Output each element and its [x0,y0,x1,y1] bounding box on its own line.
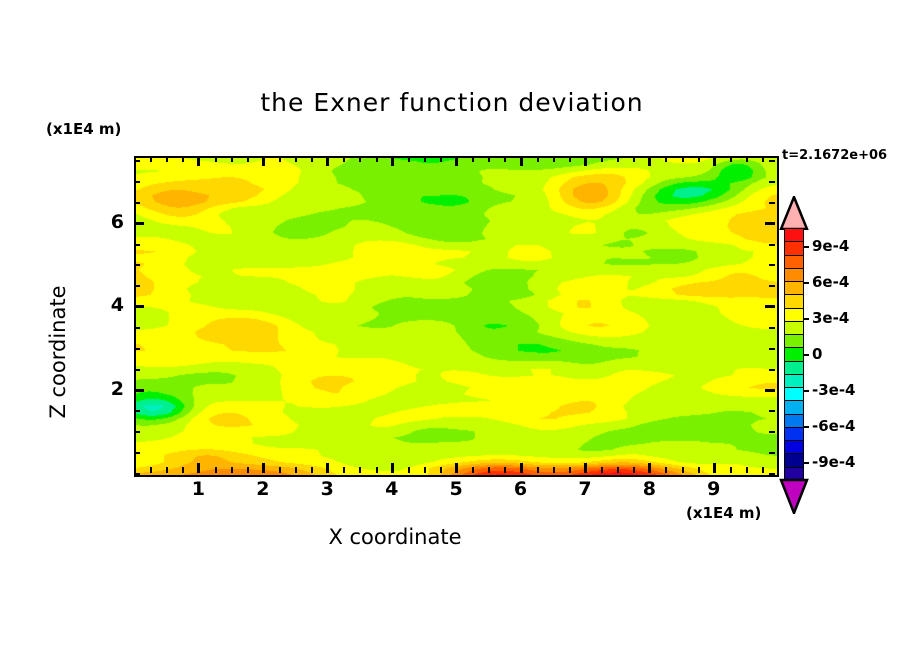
colorbar-band [784,414,804,428]
x-tick-minor [408,156,410,162]
x-tick-label: 3 [307,478,347,500]
x-tick-minor [633,156,635,162]
x-tick-minor [601,156,603,162]
x-tick-label: 6 [501,478,541,500]
x-tick-minor-bottom [182,467,184,473]
x-tick-label: 4 [372,478,412,500]
contour-field-canvas [136,158,777,475]
colorbar-under-arrow [776,478,812,514]
x-tick-minor-bottom [424,467,426,473]
x-tick-minor [424,156,426,162]
y-tick-minor [134,410,140,412]
y-tick-minor [134,431,140,433]
x-tick-minor [537,156,539,162]
colorbar-tick-label: -3e-4 [812,381,856,399]
y-tick-label: 2 [98,378,124,400]
y-tick-minor-right [769,327,775,329]
y-tick-minor-right [769,181,775,183]
x-tick-minor-bottom [376,467,378,473]
x-tick-minor-bottom [247,467,249,473]
x-tick-major-bottom [713,463,716,473]
colorbar-band [784,228,804,242]
y-tick-minor-right [769,369,775,371]
colorbar-tick [804,354,809,356]
colorbar-tick [804,462,809,464]
x-tick-minor [231,156,233,162]
x-tick-minor-bottom [488,467,490,473]
x-tick-major [197,156,200,166]
colorbar-band [784,255,804,269]
x-tick-minor [311,156,313,162]
x-tick-minor-bottom [665,467,667,473]
x-tick-minor-bottom [311,467,313,473]
x-tick-minor-bottom [440,467,442,473]
y-tick-minor-right [769,244,775,246]
colorbar-tick-label: 6e-4 [812,273,849,291]
x-tick-major [648,156,651,166]
colorbar-band [784,427,804,441]
colorbar-over-arrow [776,196,812,230]
y-tick-minor [134,244,140,246]
x-tick-minor [553,156,555,162]
y-tick-minor-right [769,160,775,162]
x-tick-major-bottom [326,463,329,473]
colorbar-band [784,440,804,454]
x-tick-minor [488,156,490,162]
y-tick-minor-right [769,285,775,287]
x-tick-minor [730,156,732,162]
y-tick-major [134,305,144,308]
colorbar[interactable] [784,228,804,480]
y-tick-major-right [765,305,775,308]
x-tick-minor [279,156,281,162]
x-tick-major [520,156,523,166]
x-tick-major [391,156,394,166]
z-axis-unit-label: (x1E4 m) [46,120,121,138]
x-tick-minor-bottom [698,467,700,473]
x-tick-label: 2 [243,478,283,500]
x-tick-label: 5 [436,478,476,500]
colorbar-tick [804,318,809,320]
colorbar-band [784,294,804,308]
x-axis-unit-label: (x1E4 m) [686,504,761,522]
x-tick-minor [762,156,764,162]
x-tick-minor-bottom [601,467,603,473]
colorbar-tick [804,282,809,284]
y-tick-label: 4 [98,294,124,316]
y-tick-major [134,389,144,392]
x-tick-minor-bottom [231,467,233,473]
x-tick-minor-bottom [730,467,732,473]
colorbar-band [784,281,804,295]
colorbar-band [784,308,804,322]
colorbar-tick-label: 0 [812,345,822,363]
colorbar-tick-label: 3e-4 [812,309,849,327]
page-title: the Exner function deviation [0,88,904,117]
x-tick-minor-bottom [633,467,635,473]
x-tick-minor-bottom [553,467,555,473]
x-tick-minor-bottom [617,467,619,473]
colorbar-band [784,453,804,467]
x-tick-minor [182,156,184,162]
y-tick-minor-right [769,473,775,475]
x-tick-major-bottom [520,463,523,473]
x-tick-minor [504,156,506,162]
y-tick-minor [134,264,140,266]
colorbar-tick-label: -9e-4 [812,453,856,471]
y-tick-major [134,222,144,225]
y-tick-major-right [765,222,775,225]
y-tick-minor-right [769,202,775,204]
x-tick-minor [166,156,168,162]
y-tick-minor-right [769,410,775,412]
colorbar-band [784,387,804,401]
colorbar-tick [804,390,809,392]
y-tick-minor [134,181,140,183]
x-tick-minor [343,156,345,162]
x-tick-minor [376,156,378,162]
colorbar-band [784,241,804,255]
x-tick-minor [746,156,748,162]
colorbar-band [784,268,804,282]
x-tick-minor-bottom [569,467,571,473]
x-tick-label: 7 [565,478,605,500]
y-tick-minor [134,348,140,350]
time-annotation: t=2.1672e+06 [782,148,887,163]
x-tick-minor [472,156,474,162]
x-tick-minor-bottom [472,467,474,473]
figure-canvas: the Exner function deviation (x1E4 m) (x… [0,0,904,654]
y-tick-minor [134,452,140,454]
x-tick-minor [150,156,152,162]
x-tick-minor-bottom [295,467,297,473]
y-tick-minor [134,473,140,475]
x-tick-label: 8 [629,478,669,500]
y-tick-minor-right [769,348,775,350]
x-tick-minor-bottom [537,467,539,473]
x-tick-minor [617,156,619,162]
x-tick-minor-bottom [746,467,748,473]
x-tick-major [262,156,265,166]
y-tick-minor-right [769,264,775,266]
x-tick-minor [215,156,217,162]
y-axis-title: Z coordinate [46,252,70,452]
x-tick-minor-bottom [504,467,506,473]
x-tick-major [584,156,587,166]
contour-plot-area[interactable] [134,156,779,477]
y-tick-minor [134,285,140,287]
x-tick-major-bottom [391,463,394,473]
x-tick-minor-bottom [166,467,168,473]
colorbar-band [784,400,804,414]
colorbar-band [784,374,804,388]
colorbar-tick [804,246,809,248]
x-tick-minor [682,156,684,162]
colorbar-tick-label: -6e-4 [812,417,856,435]
x-tick-minor [698,156,700,162]
colorbar-band [784,334,804,348]
y-tick-minor-right [769,452,775,454]
y-tick-minor [134,327,140,329]
x-tick-minor [569,156,571,162]
colorbar-tick [804,426,809,428]
x-tick-major [455,156,458,166]
x-tick-minor-bottom [343,467,345,473]
x-tick-major [713,156,716,166]
x-tick-minor-bottom [682,467,684,473]
colorbar-tick-label: 9e-4 [812,237,849,255]
x-tick-major-bottom [455,463,458,473]
y-tick-minor [134,202,140,204]
y-tick-major-right [765,389,775,392]
x-tick-minor-bottom [408,467,410,473]
y-tick-minor [134,160,140,162]
x-tick-major-bottom [584,463,587,473]
x-tick-minor-bottom [762,467,764,473]
colorbar-band [784,347,804,361]
x-tick-label: 1 [178,478,218,500]
x-tick-minor [247,156,249,162]
x-tick-minor-bottom [215,467,217,473]
x-tick-minor-bottom [279,467,281,473]
x-tick-minor [295,156,297,162]
x-tick-minor-bottom [150,467,152,473]
y-tick-label: 6 [98,211,124,233]
y-tick-minor [134,369,140,371]
colorbar-band [784,321,804,335]
x-tick-major-bottom [648,463,651,473]
x-tick-major-bottom [197,463,200,473]
x-tick-label: 9 [694,478,734,500]
y-tick-minor-right [769,431,775,433]
x-tick-minor [440,156,442,162]
x-tick-minor [665,156,667,162]
x-tick-major [326,156,329,166]
x-tick-major-bottom [262,463,265,473]
x-tick-minor-bottom [359,467,361,473]
x-axis-title: X coordinate [0,525,790,549]
colorbar-band [784,361,804,375]
x-tick-minor [359,156,361,162]
